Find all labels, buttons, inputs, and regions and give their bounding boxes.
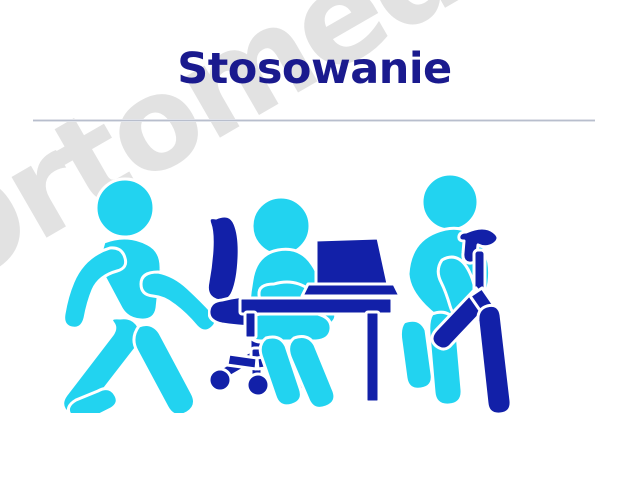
person-with-crutches-icon bbox=[388, 166, 533, 418]
slide-canvas: Ortomedico.pl Stosowanie bbox=[0, 0, 629, 493]
page-title: Stosowanie bbox=[0, 44, 629, 94]
walking-person-figure bbox=[38, 168, 228, 413]
walking-person-icon bbox=[38, 168, 228, 413]
person-with-crutches-figure bbox=[388, 166, 533, 418]
title-divider bbox=[33, 119, 595, 122]
person-at-desk-icon bbox=[208, 188, 398, 410]
person-at-desk-figure bbox=[208, 188, 398, 410]
